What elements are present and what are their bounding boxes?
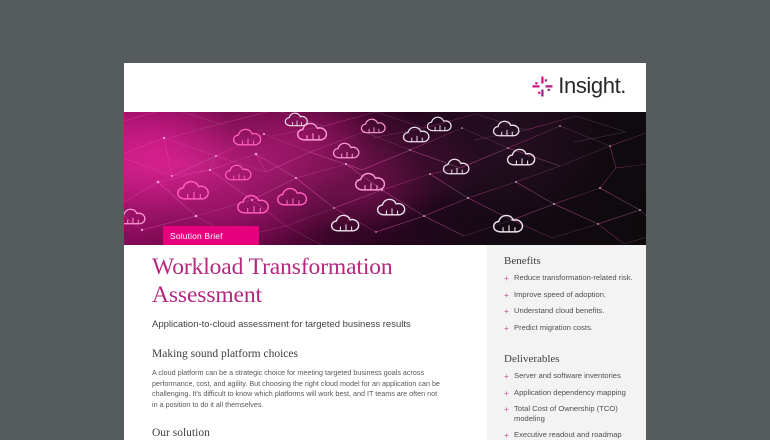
plus-icon: +	[504, 388, 512, 399]
list-item: + Improve speed of adoption.	[504, 290, 646, 301]
section-heading-our-solution: Our solution	[152, 426, 468, 440]
list-item: + Understand cloud benefits.	[504, 306, 646, 317]
plus-icon: +	[504, 371, 512, 382]
list-item: + Application dependency mapping	[504, 388, 646, 399]
section-paragraph-platform-choices: A cloud platform can be a strategic choi…	[152, 368, 442, 410]
solution-brief-tab: Solution Brief	[163, 226, 259, 245]
insight-wordmark: Insight.	[558, 75, 626, 97]
benefit-label: Reduce transformation-related risk.	[514, 273, 633, 283]
plus-icon: +	[504, 306, 512, 317]
list-item: + Predict migration costs.	[504, 323, 646, 334]
plus-icon: +	[504, 430, 512, 440]
screenshot-canvas: Insight.	[0, 0, 770, 440]
benefit-label: Predict migration costs.	[514, 323, 593, 333]
insight-logo[interactable]: Insight.	[532, 75, 626, 97]
insight-pinwheel-logo-icon	[532, 76, 553, 97]
hero-banner: Solution Brief	[124, 112, 646, 245]
sidebar-content-column: Benefits + Reduce transformation-related…	[504, 245, 646, 440]
plus-icon: +	[504, 323, 512, 334]
document-header: Insight.	[124, 63, 646, 112]
page-subtitle: Application-to-cloud assessment for targ…	[152, 318, 468, 331]
benefits-list: + Reduce transformation-related risk. + …	[504, 273, 646, 334]
deliverable-label: Application dependency mapping	[514, 388, 626, 398]
deliverable-label: Total Cost of Ownership (TCO) modeling	[514, 404, 646, 424]
deliverable-label: Server and software inventories	[514, 371, 621, 381]
solution-brief-label: Solution Brief	[170, 231, 223, 241]
plus-icon: +	[504, 290, 512, 301]
document-page: Insight.	[124, 63, 646, 440]
main-content-column: Workload Transformation Assessment Appli…	[152, 245, 468, 440]
benefit-label: Improve speed of adoption.	[514, 290, 606, 300]
list-item: + Server and software inventories	[504, 371, 646, 382]
list-item: + Executive readout and roadmap	[504, 430, 646, 440]
list-item: + Reduce transformation-related risk.	[504, 273, 646, 284]
page-title: Workload Transformation Assessment	[152, 245, 468, 309]
plus-icon: +	[504, 273, 512, 284]
sidebar-heading-benefits: Benefits	[504, 245, 646, 268]
deliverables-list: + Server and software inventories + Appl…	[504, 371, 646, 440]
benefit-label: Understand cloud benefits.	[514, 306, 604, 316]
document-body: Workload Transformation Assessment Appli…	[124, 245, 646, 440]
plus-icon: +	[504, 404, 512, 415]
deliverable-label: Executive readout and roadmap	[514, 430, 622, 440]
sidebar-heading-deliverables: Deliverables	[504, 339, 646, 366]
list-item: + Total Cost of Ownership (TCO) modeling	[504, 404, 646, 424]
section-heading-platform-choices: Making sound platform choices	[152, 347, 468, 362]
